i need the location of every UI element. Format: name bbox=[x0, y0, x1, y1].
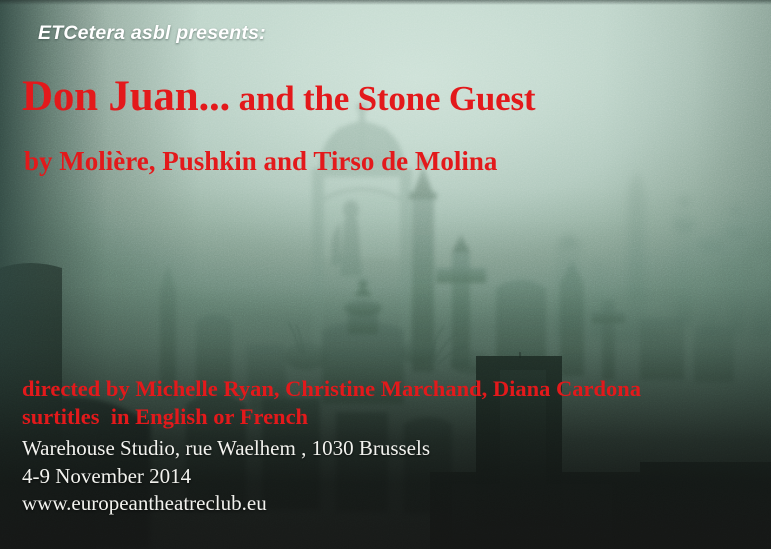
credits-block: directed by Michelle Ryan, Christine Mar… bbox=[22, 375, 722, 518]
title-main: Don Juan... bbox=[22, 73, 230, 120]
title-subtitle: and the Stone Guest bbox=[230, 79, 535, 118]
credit-line-surtitles: surtitles in English or French bbox=[22, 403, 722, 431]
page-title: Don Juan... and the Stone Guest bbox=[22, 75, 535, 118]
credit-line-website[interactable]: www.europeantheatreclub.eu bbox=[22, 490, 722, 518]
authors-byline: by Molière, Pushkin and Tirso de Molina bbox=[24, 148, 497, 175]
theatre-poster: ETCetera asbl presents: Don Juan... and … bbox=[0, 0, 771, 549]
credit-line-venue: Warehouse Studio, rue Waelhem , 1030 Bru… bbox=[22, 435, 722, 463]
presenter-line: ETCetera asbl presents: bbox=[38, 24, 266, 44]
credit-line-directors: directed by Michelle Ryan, Christine Mar… bbox=[22, 375, 722, 403]
credit-line-dates: 4-9 November 2014 bbox=[22, 463, 722, 491]
